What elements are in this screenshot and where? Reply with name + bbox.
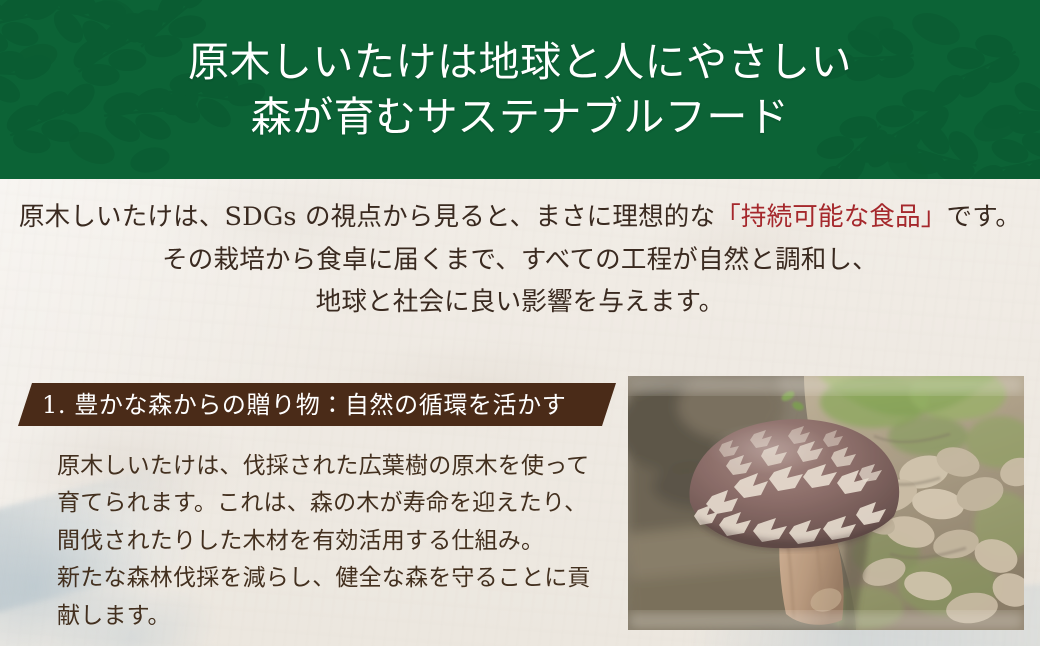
sustainable-shiitake-infographic: 原木しいたけは地球と人にやさしい 森が育むサステナブルフード 原木しいたけは、S…: [0, 0, 1040, 646]
header-title-line-2: 森が育むサステナブルフード: [251, 90, 790, 144]
body-line-1: 原木しいたけは、伐採された広葉樹の原木を使って: [57, 448, 617, 485]
shiitake-photo: [628, 376, 1024, 630]
intro-line-1-before: 原木しいたけは、SDGs の視点から見ると、まさに理想的な: [19, 202, 715, 232]
intro-line-1-after: です。: [947, 202, 1022, 232]
intro-line-1: 原木しいたけは、SDGs の視点から見ると、まさに理想的な「持続可能な食品」です…: [0, 196, 1040, 239]
body-line-2: 育てられます。これは、森の木が寿命を迎えたり、: [57, 485, 617, 522]
intro-line-3: 地球と社会に良い影響を与えます。: [0, 281, 1040, 324]
header-banner: 原木しいたけは地球と人にやさしい 森が育むサステナブルフード: [0, 0, 1040, 179]
intro-line-2: その栽培から食卓に届くまで、すべての工程が自然と調和し、: [0, 239, 1040, 282]
section-body-text: 原木しいたけは、伐採された広葉樹の原木を使って 育てられます。これは、森の木が寿…: [57, 448, 617, 635]
section-heading-banner: 1. 豊かな森からの贈り物：自然の循環を活かす: [18, 383, 616, 426]
body-line-5: 献します。: [57, 598, 617, 635]
section-heading-text: 1. 豊かな森からの贈り物：自然の循環を活かす: [18, 393, 566, 417]
intro-highlight-sustainable-food: 「持続可能な食品」: [715, 202, 946, 232]
body-line-4: 新たな森林伐採を減らし、健全な森を守ることに貢: [57, 560, 617, 597]
shiitake-photo-image: [628, 376, 1024, 630]
header-title-group: 原木しいたけは地球と人にやさしい 森が育むサステナブルフード: [0, 0, 1040, 179]
intro-paragraph: 原木しいたけは、SDGs の視点から見ると、まさに理想的な「持続可能な食品」です…: [0, 196, 1040, 324]
body-line-3: 間伐されたりした木材を有効活用する仕組み。: [57, 523, 617, 560]
header-title-line-1: 原木しいたけは地球と人にやさしい: [188, 35, 852, 89]
